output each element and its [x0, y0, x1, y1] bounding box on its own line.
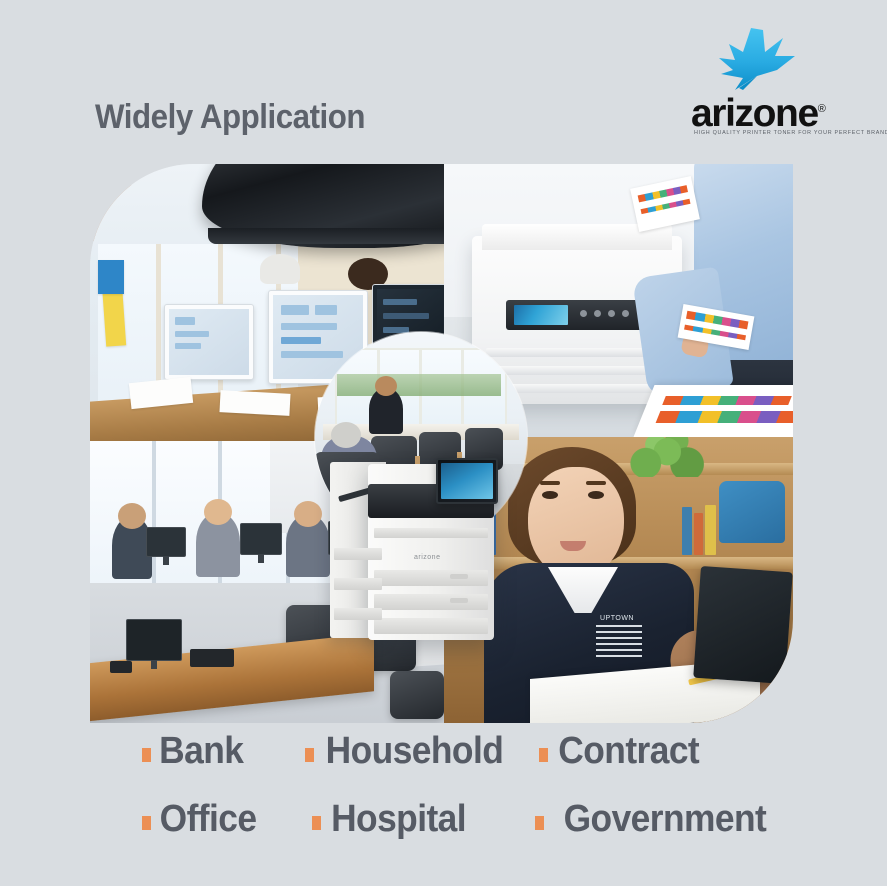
application-label-office: Office [142, 798, 260, 841]
page-title: Widely Application [95, 98, 365, 137]
label-text: Hospital [331, 798, 466, 841]
brand-wordmark: arizone® [691, 88, 826, 135]
bullet-icon [535, 816, 544, 830]
label-text: Office [160, 798, 257, 841]
application-label-hospital: Hospital [312, 798, 471, 841]
label-text: Contract [559, 730, 700, 773]
application-label-contract: Contract [539, 730, 704, 773]
uniform-crest-text: UPTOWN [600, 615, 634, 622]
application-labels-row-2: Office Hospital Government [142, 798, 782, 866]
application-label-government: Government [535, 798, 774, 841]
brand-logo: arizone® HIGH QUALITY PRINTER TONER FOR … [691, 26, 839, 136]
label-text: Bank [159, 730, 243, 773]
brand-tagline: HIGH QUALITY PRINTER TONER FOR YOUR PERF… [694, 130, 887, 136]
bullet-icon [305, 748, 314, 762]
bullet-icon [312, 816, 321, 830]
bird-logo-icon [713, 26, 799, 92]
bullet-icon [539, 748, 548, 762]
bullet-icon [142, 748, 151, 762]
printer-brand-text: arizone [414, 554, 440, 561]
application-labels: Bank Household Contract Office Hospital … [142, 730, 782, 866]
application-label-household: Household [305, 730, 510, 773]
tablet-device [693, 566, 793, 684]
application-label-bank: Bank [142, 730, 247, 773]
multifunction-printer-overlay: arizone [330, 428, 494, 640]
registered-mark: ® [818, 103, 826, 115]
bullet-icon [142, 816, 151, 830]
blue-chair [719, 481, 785, 543]
application-image-collage: UPTOWN [90, 164, 793, 723]
potted-plant [620, 437, 706, 477]
label-text: Household [325, 730, 503, 773]
label-text: Government [564, 798, 767, 841]
application-labels-row-1: Bank Household Contract [142, 730, 782, 798]
brand-name: arizone [691, 92, 818, 135]
